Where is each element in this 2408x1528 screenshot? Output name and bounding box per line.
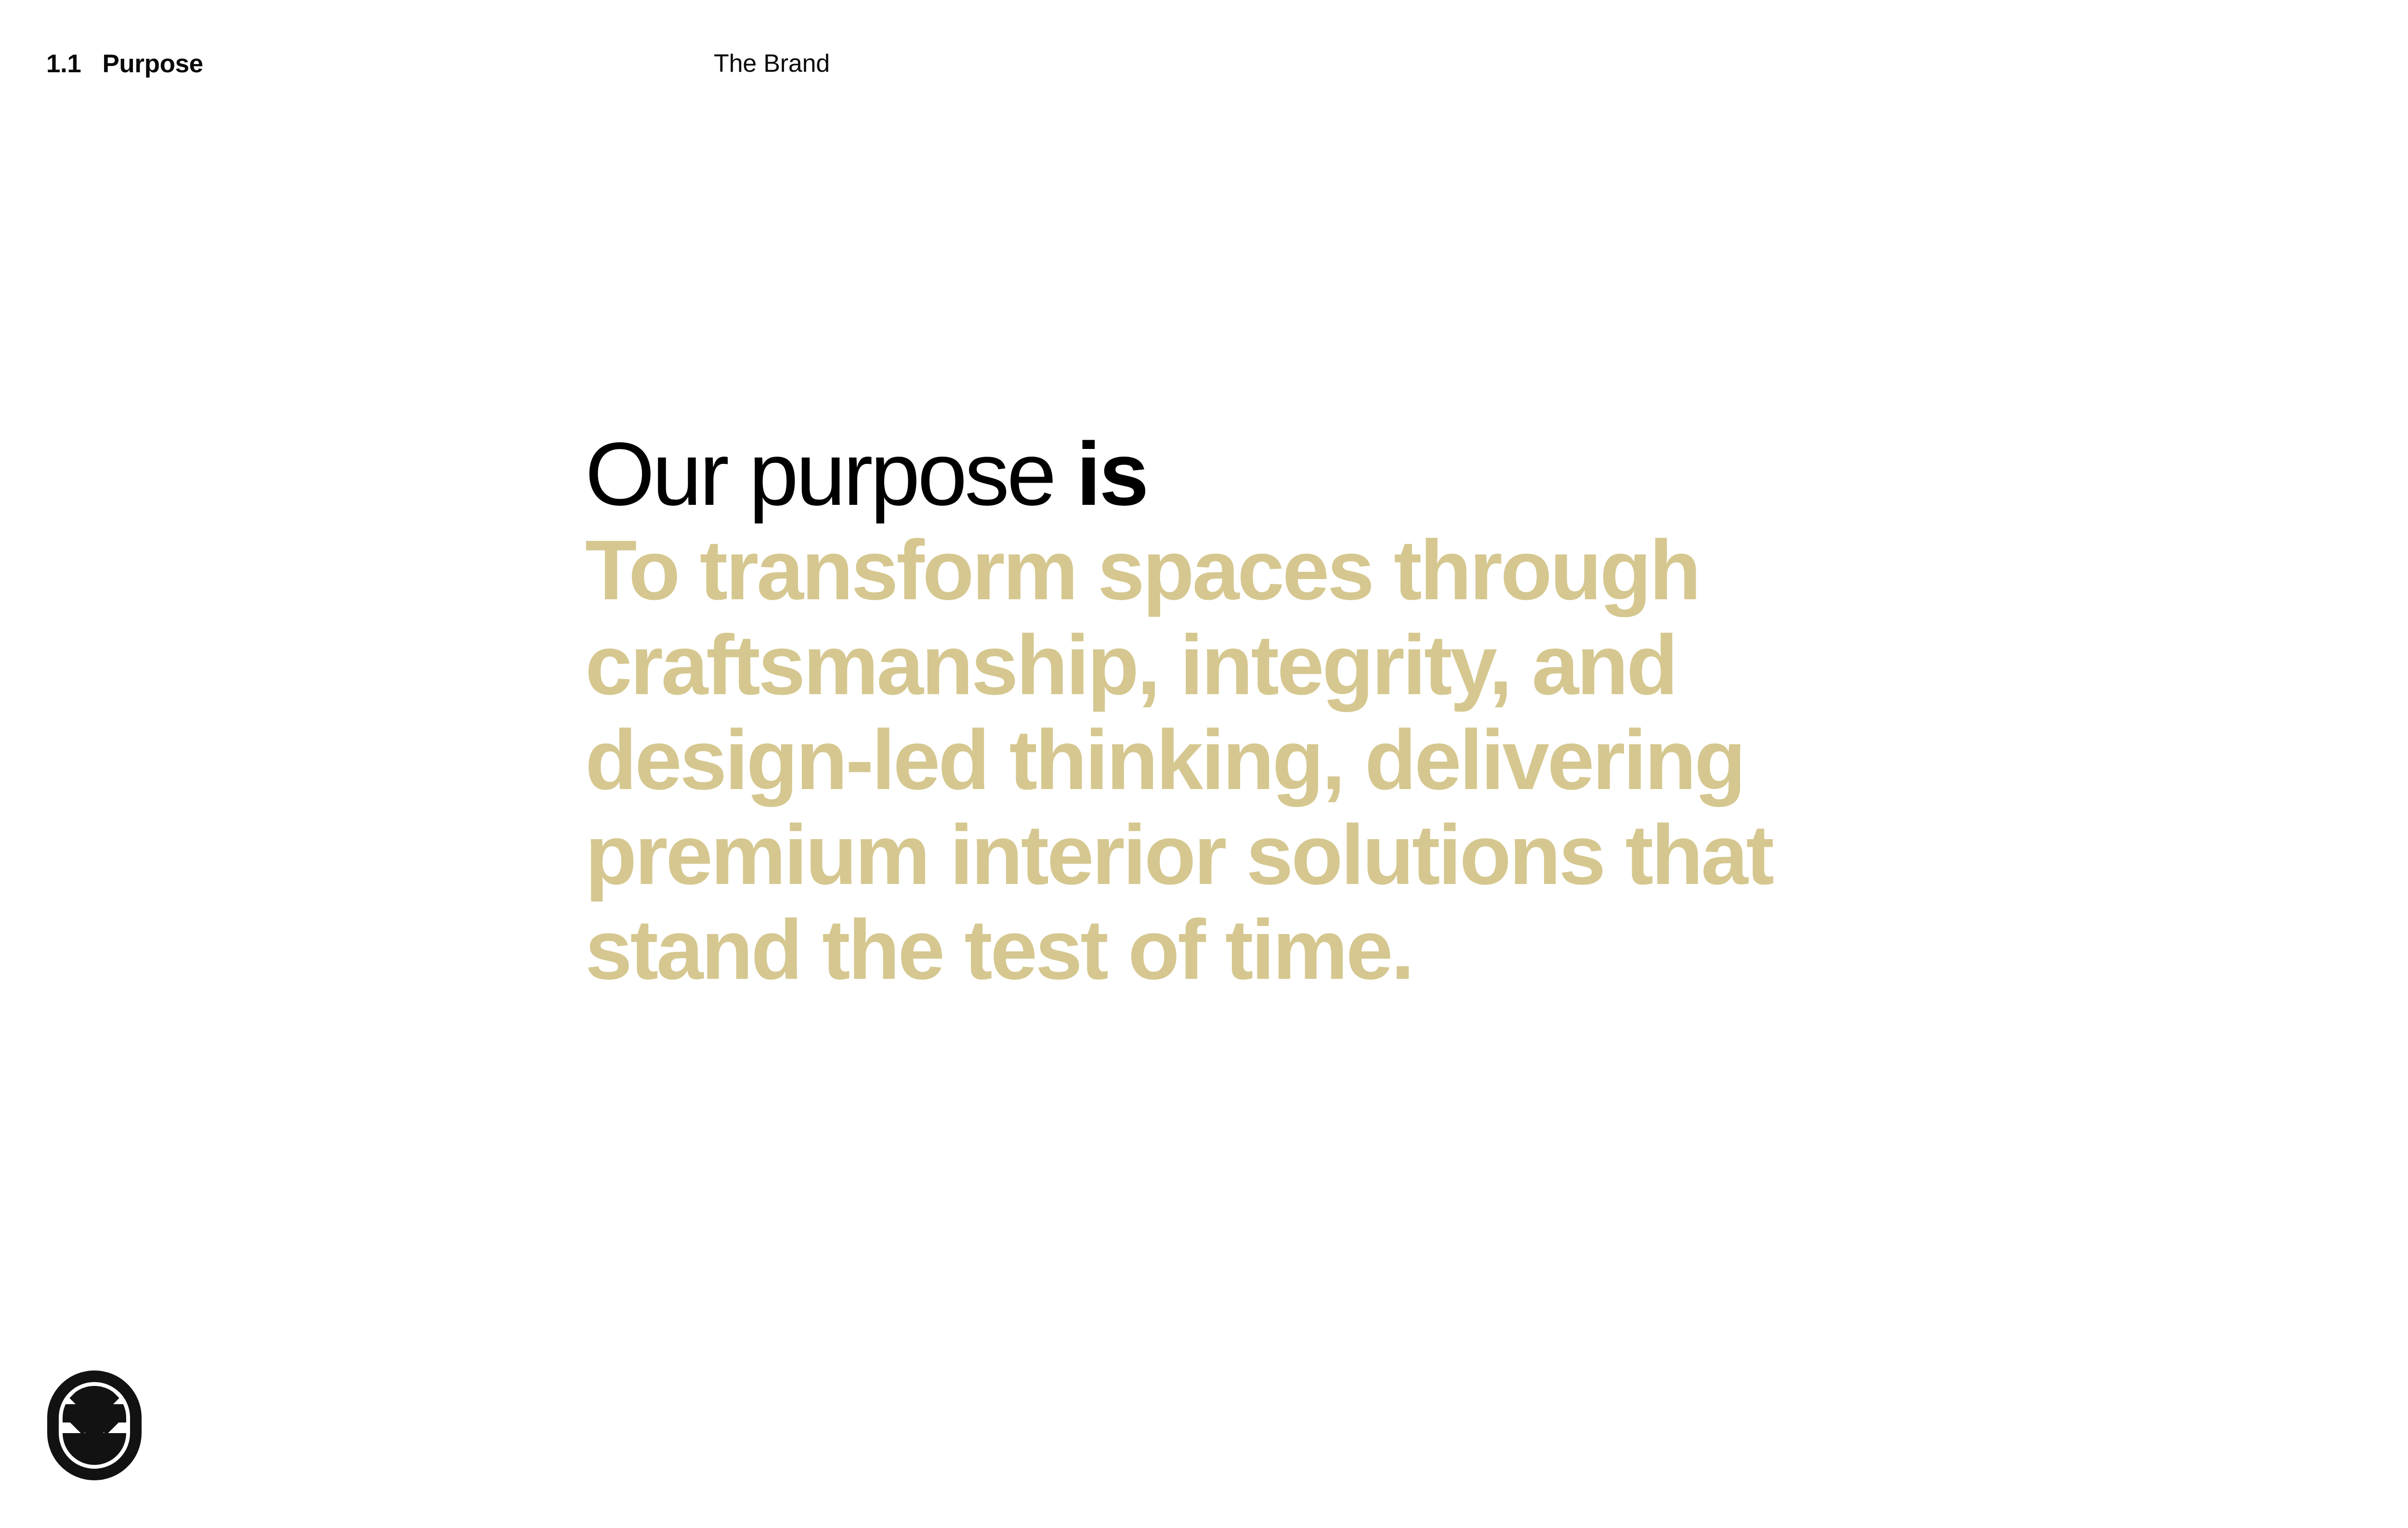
statement-line: stand the test of time.: [585, 903, 2078, 998]
statement-line: design-led thinking, delivering: [585, 713, 2078, 808]
brand-monogram-icon: [47, 1370, 142, 1480]
brand-logo: [47, 1370, 142, 1480]
statement-line: To transform spaces through: [585, 523, 2078, 618]
purpose-statement: To transform spaces through craftsmanshi…: [585, 523, 2078, 998]
logo-inner-mark: [63, 1384, 126, 1467]
headline-bold-text: is: [1076, 424, 1147, 524]
section-number: 1.1: [46, 51, 81, 77]
slide-page: 1.1 Purpose The Brand 5 Our purpose is T…: [0, 0, 2408, 1528]
statement-line: premium interior solutions that: [585, 808, 2078, 903]
main-copy-block: Our purpose is To transform spaces throu…: [585, 430, 2078, 998]
statement-line: craftsmanship, integrity, and: [585, 618, 2078, 713]
section-title: Purpose: [102, 51, 203, 77]
header-section-label: 1.1 Purpose: [46, 51, 203, 77]
headline-light-text: Our purpose: [585, 424, 1076, 524]
document-title: The Brand: [714, 51, 830, 76]
headline: Our purpose is: [585, 430, 2078, 519]
page-header: 1.1 Purpose The Brand 5: [0, 51, 2408, 80]
